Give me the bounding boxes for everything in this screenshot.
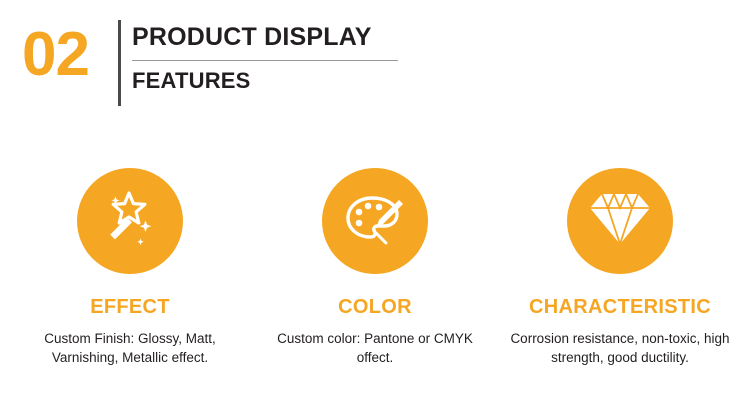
page-title: PRODUCT DISPLAY [132,22,552,58]
feature-item: CHARACTERISTIC Corrosion resistance, non… [498,168,742,367]
page-subtitle: FEATURES [132,67,552,95]
feature-description: Custom Finish: Glossy, Matt, Varnishing,… [15,329,245,367]
title-horizontal-rule [132,60,398,61]
section-number: 02 [22,24,89,86]
slide-header: 02 PRODUCT DISPLAY FEATURES [0,0,750,124]
feature-icon-circle [322,168,428,274]
feature-item: COLOR Custom color: Pantone or CMYK offe… [253,168,497,367]
slide-page: 02 PRODUCT DISPLAY FEATURES [0,0,750,420]
paint-palette-brush-icon [342,186,408,257]
diamond-icon [588,190,652,253]
feature-icon-circle [567,168,673,274]
header-title-group: PRODUCT DISPLAY FEATURES [132,22,552,95]
feature-item: EFFECT Custom Finish: Glossy, Matt, Varn… [8,168,252,367]
feature-title: EFFECT [90,296,170,319]
feature-list: EFFECT Custom Finish: Glossy, Matt, Varn… [0,168,750,367]
feature-title: COLOR [338,296,412,319]
header-vertical-divider [118,20,121,106]
feature-description: Custom color: Pantone or CMYK offect. [260,329,490,367]
feature-icon-circle [77,168,183,274]
feature-title: CHARACTERISTIC [529,296,711,319]
magic-wand-sparkle-icon [97,186,163,257]
feature-description: Corrosion resistance, non-toxic, high st… [505,329,735,367]
